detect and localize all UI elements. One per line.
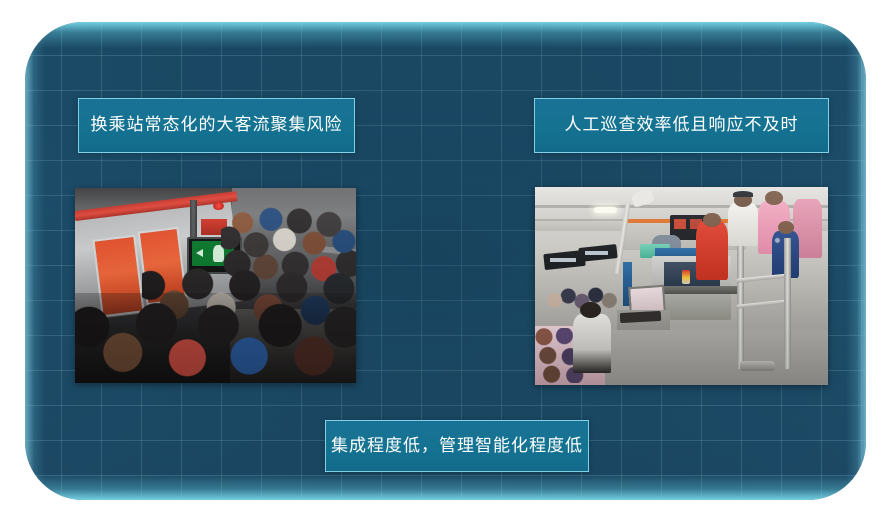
photo-crowded-subway-platform: [75, 188, 356, 383]
slide-canvas: 换乘站常态化的大客流聚集风险 人工巡查效率低且响应不及时 集成程度低，管理智能化…: [0, 0, 891, 520]
photo-right-content: [535, 187, 828, 385]
callout-box-bottom[interactable]: 集成程度低，管理智能化程度低: [325, 420, 589, 472]
photo-left-content: [75, 188, 356, 383]
photo-left-shading: [75, 188, 356, 383]
callout-right-text: 人工巡查效率低且响应不及时: [565, 115, 799, 135]
callout-left-text: 换乘站常态化的大客流聚集风险: [91, 115, 343, 135]
callout-box-right[interactable]: 人工巡查效率低且响应不及时: [534, 98, 829, 153]
callout-box-left[interactable]: 换乘站常态化的大客流聚集风险: [78, 98, 355, 153]
photo-security-checkpoint: [535, 187, 828, 385]
photo-right-shading: [535, 187, 828, 385]
callout-bottom-text: 集成程度低，管理智能化程度低: [331, 436, 583, 456]
